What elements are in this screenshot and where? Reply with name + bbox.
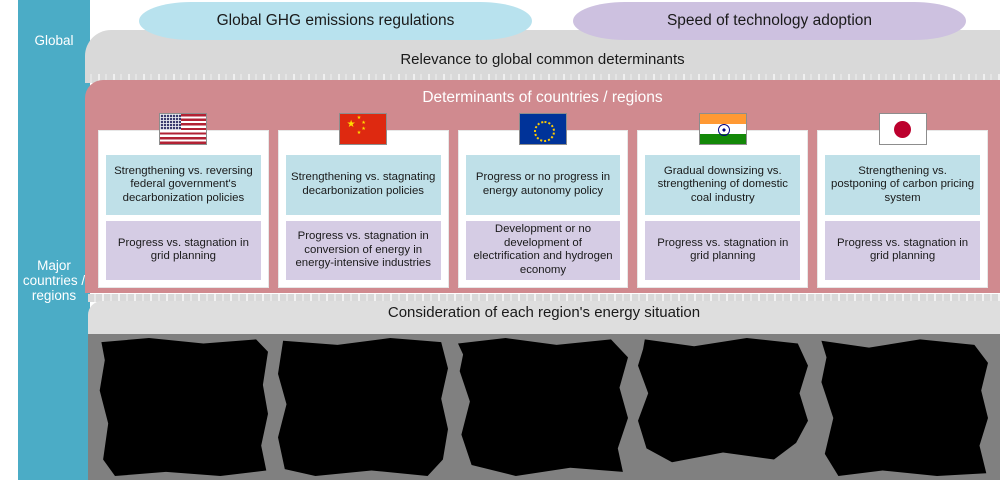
country-card-united-states: Strengthening vs. reversing federal gove… (98, 130, 269, 288)
flag-china-icon: ★ ★★ ★★ (339, 113, 387, 145)
country-card-china: ★ ★★ ★★ Strengthening vs. stagnating dec… (278, 130, 449, 288)
flag-european-union-icon (519, 113, 567, 145)
flag-india-icon (699, 113, 747, 145)
rail-label-major-countries: Major countries / regions (18, 258, 90, 303)
determinant-box-secondary: Progress vs. stagnation in conversion of… (286, 221, 441, 281)
determinant-box-secondary: Development or no development of electri… (466, 221, 621, 281)
blob-global-ghg-regulations: Global GHG emissions regulations (139, 2, 532, 40)
blob-label-technology: Speed of technology adoption (667, 12, 872, 30)
flag-japan-icon (879, 113, 927, 145)
redacted-block-1 (98, 338, 268, 476)
redacted-content-row (98, 338, 988, 476)
redacted-block-4 (638, 338, 808, 476)
diagram-canvas: Global Major countries / regions Relevan… (0, 0, 1000, 487)
determinant-box-secondary: Progress vs. stagnation in grid planning (825, 221, 980, 281)
determinant-box-primary: Progress or no progress in energy autono… (466, 155, 621, 215)
country-card-india: Gradual downsizing vs. strengthening of … (637, 130, 808, 288)
left-rail (18, 0, 90, 480)
blob-technology-adoption: Speed of technology adoption (573, 2, 966, 40)
determinant-box-primary: Strengthening vs. stagnating decarboniza… (286, 155, 441, 215)
redacted-block-5 (818, 338, 988, 476)
determinant-box-secondary: Progress vs. stagnation in grid planning (645, 221, 800, 281)
flag-united-states-icon (159, 113, 207, 145)
redacted-block-2 (278, 338, 448, 476)
energy-consideration-label: Consideration of each region's energy si… (88, 304, 1000, 321)
determinant-box-secondary: Progress vs. stagnation in grid planning (106, 221, 261, 281)
country-card-european-union: Progress or no progress in energy autono… (458, 130, 629, 288)
rail-label-global: Global (18, 33, 90, 48)
blob-label-ghg: Global GHG emissions regulations (217, 12, 455, 30)
redacted-block-3 (458, 338, 628, 476)
determinant-box-primary: Strengthening vs. postponing of carbon p… (825, 155, 980, 215)
determinants-title: Determinants of countries / regions (85, 89, 1000, 107)
country-card-strip: Strengthening vs. reversing federal gove… (98, 130, 988, 288)
global-relevance-label: Relevance to global common determinants (85, 51, 1000, 68)
determinant-box-primary: Strengthening vs. reversing federal gove… (106, 155, 261, 215)
country-card-japan: Strengthening vs. postponing of carbon p… (817, 130, 988, 288)
determinant-box-primary: Gradual downsizing vs. strengthening of … (645, 155, 800, 215)
